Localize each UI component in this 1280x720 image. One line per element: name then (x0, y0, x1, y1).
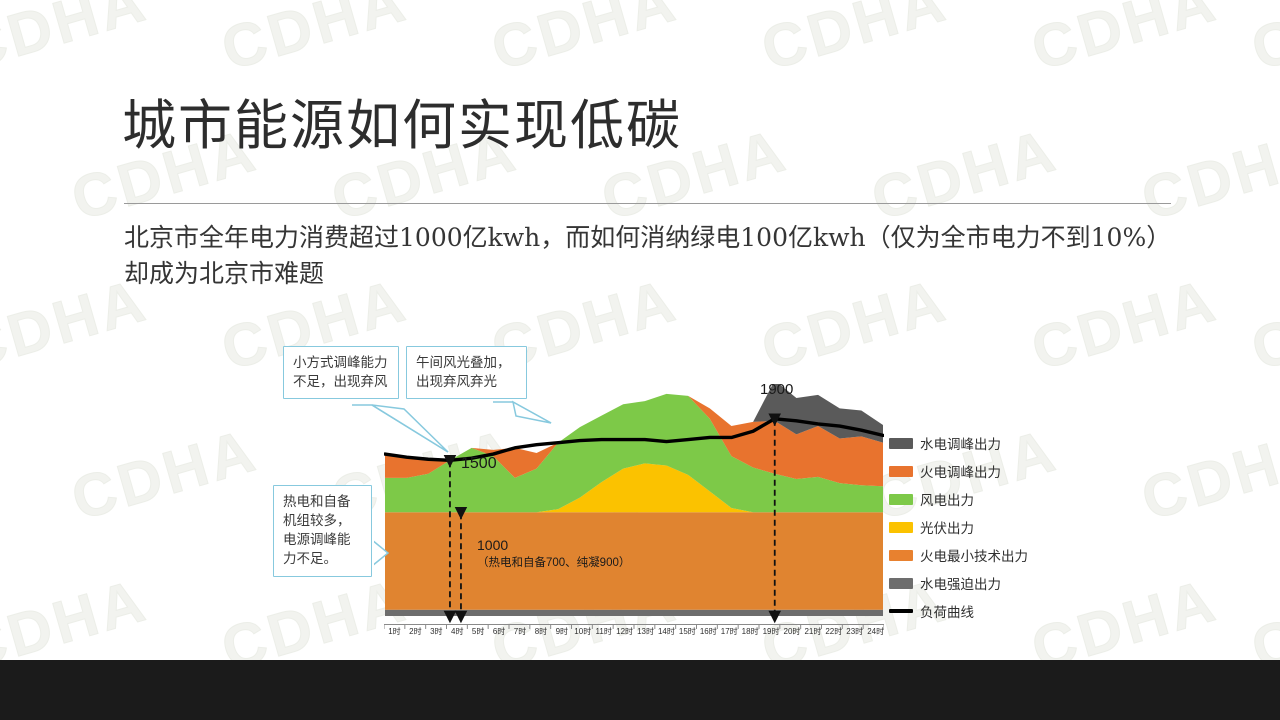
footer-bar (0, 660, 1280, 720)
x-axis-tick: 16时 (698, 626, 719, 637)
x-axis-tick: 9时 (551, 626, 572, 637)
legend-item[interactable]: 水电调峰出力 (889, 429, 1028, 457)
legend-swatch-icon (889, 522, 913, 533)
legend-label: 火电最小技术出力 (920, 545, 1028, 565)
x-axis-tick: 4时 (447, 626, 468, 637)
x-axis-tick: 12时 (614, 626, 635, 637)
area-series-0 (385, 610, 883, 616)
x-axis-tick: 19时 (761, 626, 782, 637)
x-axis-tick: 7时 (510, 626, 531, 637)
x-axis-tick: 18时 (740, 626, 761, 637)
annotation-base-1000: 1000 (477, 537, 508, 553)
area-series-1 (385, 512, 883, 610)
callout-chp-capacity: 热电和自备机组较多，电源调峰能力不足。 (273, 485, 372, 577)
annotation-base-note: （热电和自备700、纯凝900） (477, 554, 630, 570)
x-axis-tick: 10时 (572, 626, 593, 637)
x-axis-tick: 3时 (426, 626, 447, 637)
legend-swatch-icon (889, 466, 913, 477)
title-divider (124, 203, 1171, 204)
callout-wind-curtailment: 小方式调峰能力不足，出现弃风 (283, 346, 399, 399)
chart-svg (384, 384, 884, 634)
x-axis-tick: 8时 (530, 626, 551, 637)
page-title: 城市能源如何实现低碳 (122, 96, 682, 155)
legend-item[interactable]: 水电强迫出力 (889, 569, 1028, 597)
x-axis-tick: 11时 (593, 626, 614, 637)
chart-legend: 水电调峰出力火电调峰出力风电出力光伏出力火电最小技术出力水电强迫出力负荷曲线 (889, 429, 1028, 625)
x-axis-labels: 1时2时3时4时5时6时7时8时9时10时11时12时13时14时15时16时1… (384, 626, 886, 637)
x-axis-tick: 22时 (823, 626, 844, 637)
x-axis-tick: 24时 (865, 626, 886, 637)
legend-label: 水电调峰出力 (920, 433, 1001, 453)
legend-item[interactable]: 风电出力 (889, 485, 1028, 513)
annotation-peak-1900: 1900 (760, 381, 793, 398)
legend-item[interactable]: 光伏出力 (889, 513, 1028, 541)
legend-swatch-icon (889, 550, 913, 561)
x-axis-tick: 21时 (802, 626, 823, 637)
x-axis-tick: 13时 (635, 626, 656, 637)
x-axis-tick: 23时 (844, 626, 865, 637)
x-axis-tick: 15时 (677, 626, 698, 637)
legend-item[interactable]: 负荷曲线 (889, 597, 1028, 625)
legend-swatch-icon (889, 578, 913, 589)
legend-label: 火电调峰出力 (920, 461, 1001, 481)
legend-swatch-icon (889, 494, 913, 505)
legend-label: 光伏出力 (920, 517, 974, 537)
x-axis-tick: 14时 (656, 626, 677, 637)
x-axis-tick: 2时 (405, 626, 426, 637)
energy-stacked-area-chart (384, 384, 884, 634)
legend-swatch-icon (889, 438, 913, 449)
legend-label: 负荷曲线 (920, 601, 974, 621)
legend-label: 水电强迫出力 (920, 573, 1001, 593)
legend-swatch-icon (889, 609, 913, 613)
x-axis-tick: 6时 (489, 626, 510, 637)
x-axis-tick: 20时 (782, 626, 803, 637)
legend-item[interactable]: 火电最小技术出力 (889, 541, 1028, 569)
legend-item[interactable]: 火电调峰出力 (889, 457, 1028, 485)
callout-midday-overlap: 午间风光叠加，出现弃风弃光 (406, 346, 527, 399)
slide-canvas: 城市能源如何实现低碳 北京市全年电力消费超过1000亿kwh，而如何消纳绿电10… (0, 0, 1280, 660)
subtitle-text: 北京市全年电力消费超过1000亿kwh，而如何消纳绿电100亿kwh（仅为全市电… (124, 220, 1172, 291)
x-axis-tick: 5时 (468, 626, 489, 637)
x-axis-tick: 17时 (719, 626, 740, 637)
x-axis-tick: 1时 (384, 626, 405, 637)
legend-label: 风电出力 (920, 489, 974, 509)
annotation-valley-1500: 1500 (461, 455, 497, 473)
